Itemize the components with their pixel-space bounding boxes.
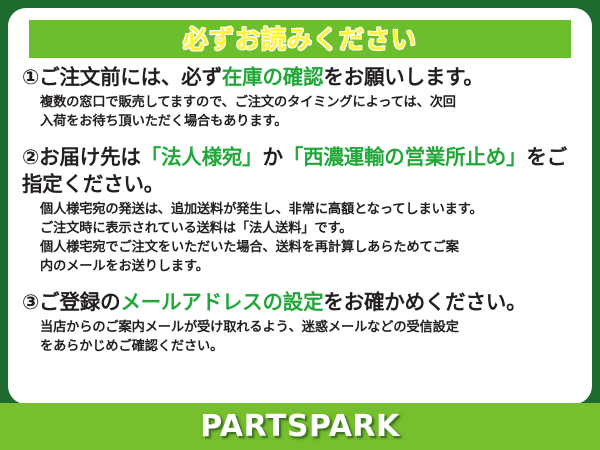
notice-section-1: ①ご注文前には、必ず在庫の確認をお願いします。 複数の窓口で販売してますので、ご… xyxy=(22,64,578,131)
notice-frame: 必ずお読みください ①ご注文前には、必ず在庫の確認をお願いします。 複数の窓口で… xyxy=(0,0,600,450)
section-2-heading: ②お届け先は「法人様宛」か「西濃運輸の営業所止め」をご指定ください。 xyxy=(22,144,578,198)
header-banner: 必ずお読みください xyxy=(29,20,571,58)
notice-body: ①ご注文前には、必ず在庫の確認をお願いします。 複数の窓口で販売してますので、ご… xyxy=(22,64,578,360)
section-1-heading: ①ご注文前には、必ず在庫の確認をお願いします。 xyxy=(22,64,578,91)
section-2-heading-part-0: お届け先は xyxy=(39,145,141,169)
section-3-marker: ③ xyxy=(22,290,39,314)
notice-card: 必ずお読みください ①ご注文前には、必ず在庫の確認をお願いします。 複数の窓口で… xyxy=(8,8,592,404)
section-2-heading-part-2: か xyxy=(262,145,282,169)
section-3-heading: ③ご登録のメールアドレスの設定をお確かめください。 xyxy=(22,289,578,316)
section-1-heading-part-0: ご注文前には、必ず xyxy=(39,65,222,89)
section-3-heading-part-0: ご登録の xyxy=(39,290,120,314)
notice-section-3: ③ご登録のメールアドレスの設定をお確かめください。 当店からのご案内メールが受け… xyxy=(22,289,578,356)
notice-section-2: ②お届け先は「法人様宛」か「西濃運輸の営業所止め」をご指定ください。 個人様宅宛… xyxy=(22,144,578,276)
section-3-heading-highlight: メールアドレスの設定 xyxy=(120,290,323,314)
section-1-heading-highlight: 在庫の確認 xyxy=(222,65,324,89)
section-1-heading-part-2: をお願いします。 xyxy=(323,65,483,89)
section-2-heading-highlight-seino: 「西濃運輸の営業所止め」 xyxy=(283,145,527,169)
header-title: 必ずお読みください xyxy=(183,27,417,52)
section-2-marker: ② xyxy=(22,145,39,169)
section-1-marker: ① xyxy=(22,65,39,89)
section-2-heading-highlight-corporate: 「法人様宛」 xyxy=(141,145,263,169)
partspark-logo: PARTSPARK xyxy=(200,412,400,442)
section-3-heading-part-2: をお確かめください。 xyxy=(323,290,526,314)
section-2-body: 個人様宅宛の発送は、追加送料が発生し、非常に高額となってしまいます。 ご注文時に… xyxy=(40,200,578,276)
footer-band: PARTSPARK xyxy=(0,403,600,450)
section-1-body: 複数の窓口で販売してますので、ご注文のタイミングによっては、次回 入荷をお待ち頂… xyxy=(40,93,578,131)
section-3-body: 当店からのご案内メールが受け取れるよう、迷惑メールなどの受信設定 をあらかじめご… xyxy=(40,318,578,356)
